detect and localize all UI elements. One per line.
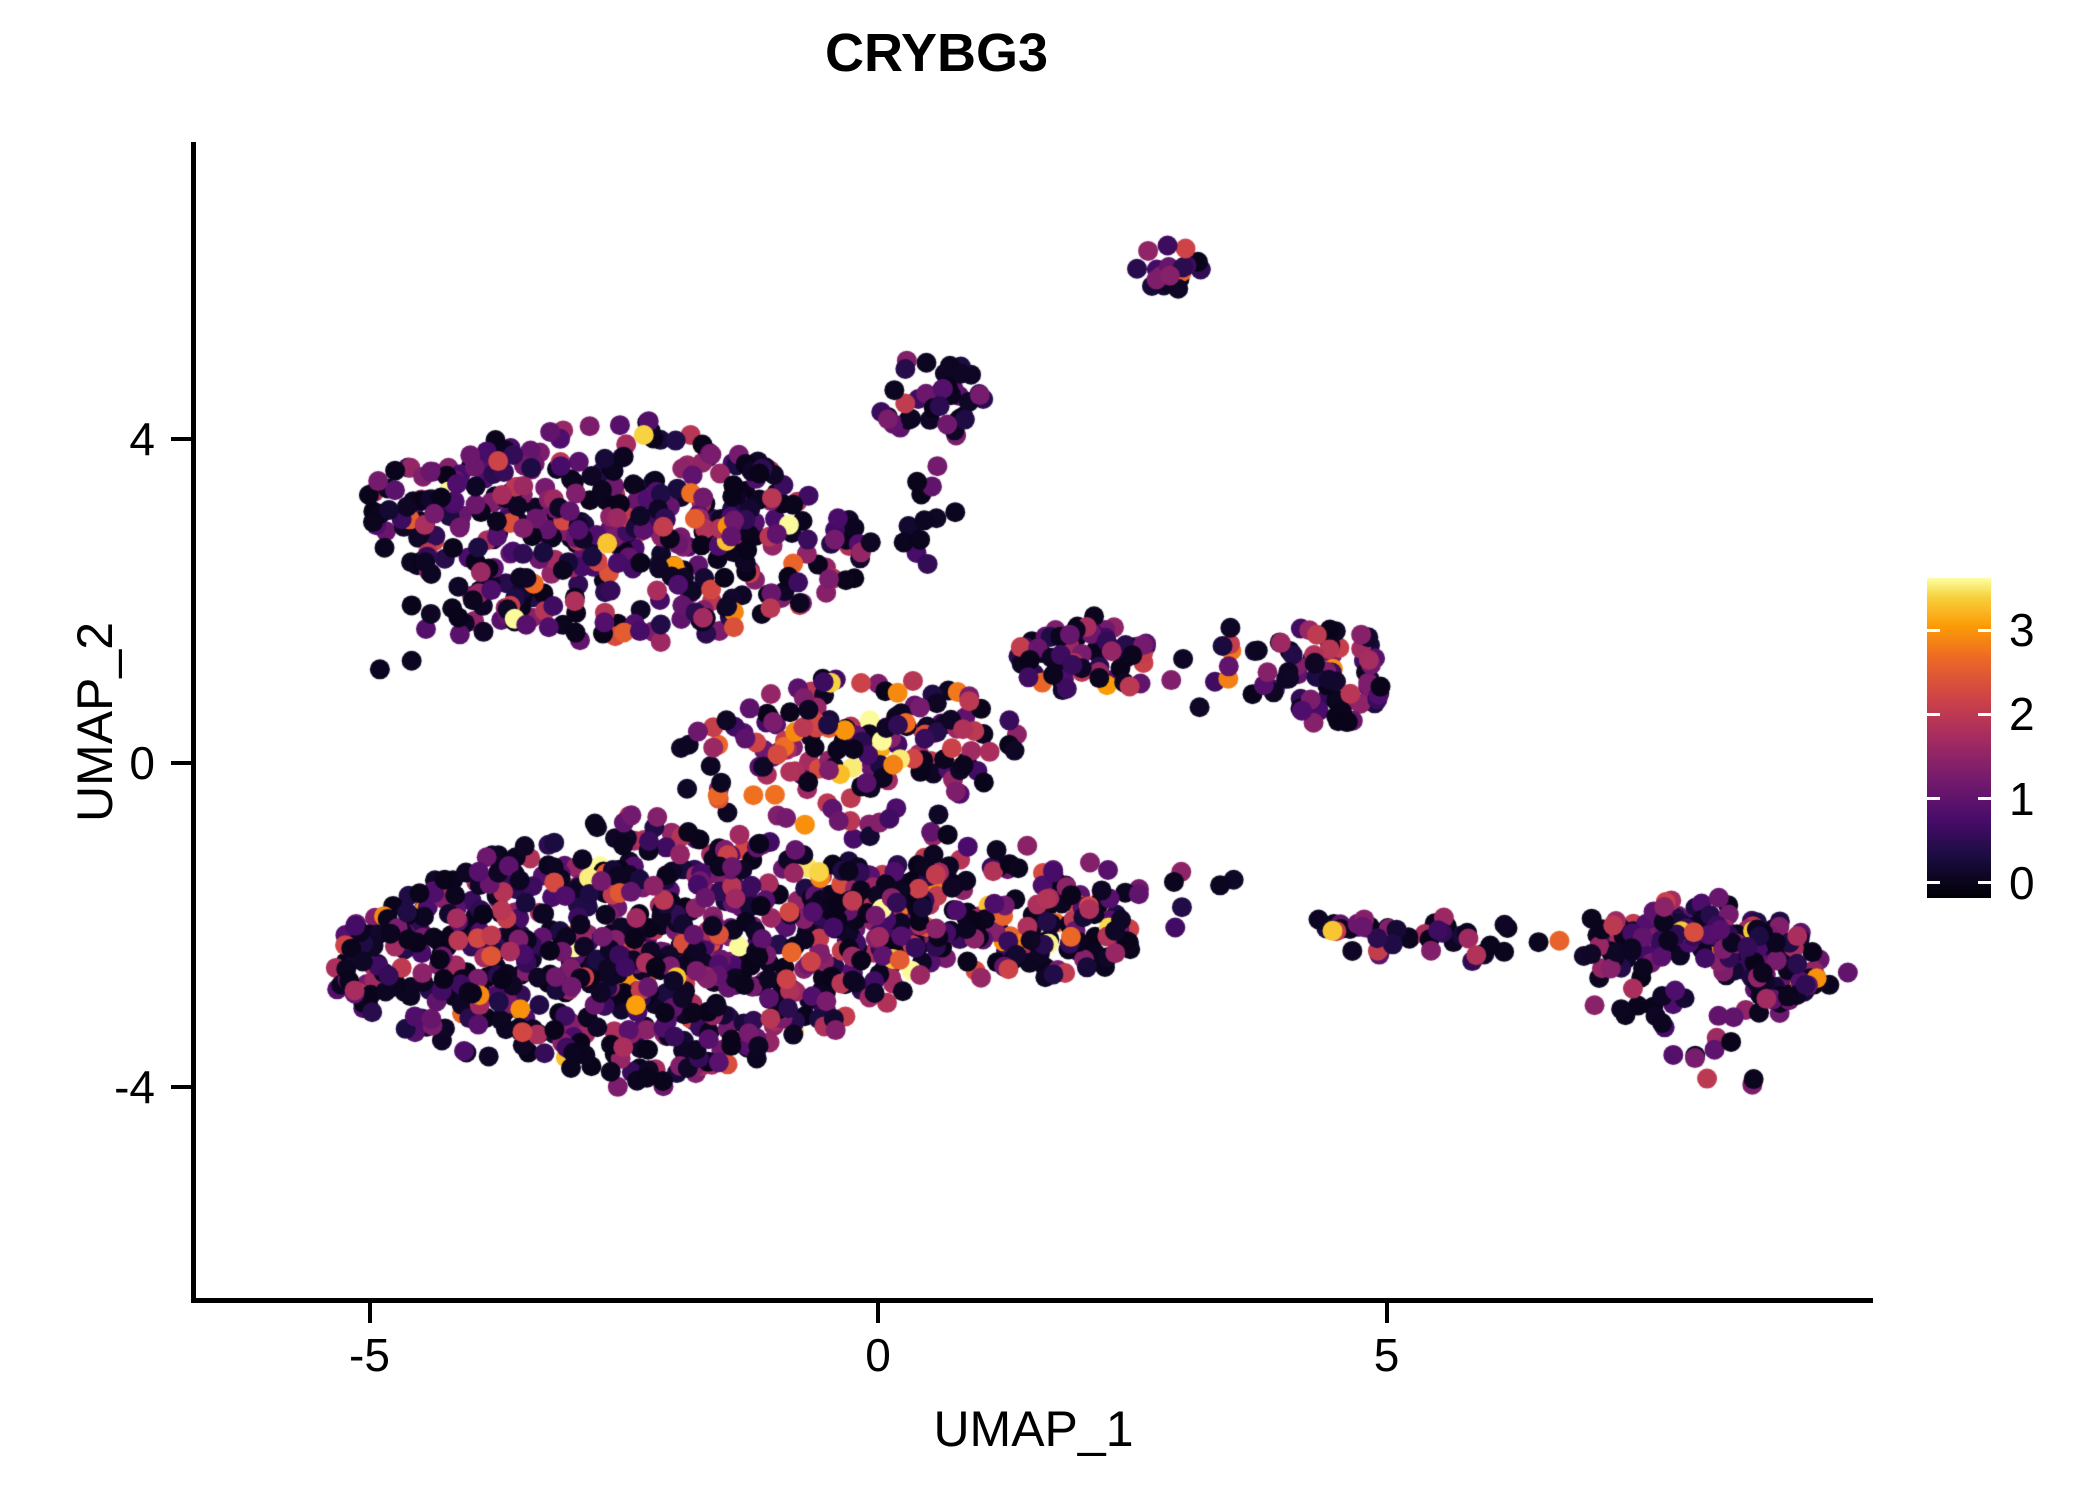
colorbar-tick-mark: [1978, 713, 1991, 716]
x-axis-line: [191, 1298, 1873, 1303]
x-tick-label: 0: [865, 1328, 891, 1382]
y-axis-line: [191, 142, 196, 1303]
colorbar-tick-mark: [1978, 797, 1991, 800]
colorbar-tick-mark: [1927, 881, 1940, 884]
chart-root: CRYBG3 -505 40-4 UMAP_1 UMAP_2 0123: [0, 0, 2100, 1500]
colorbar-tick-label: 2: [2009, 687, 2035, 741]
x-tick-label: 5: [1374, 1328, 1400, 1382]
y-axis-label: UMAP_2: [66, 142, 124, 1302]
colorbar-tick-mark: [1927, 629, 1940, 632]
colorbar-tick-mark: [1927, 797, 1940, 800]
colorbar-tick-label: 0: [2009, 856, 2035, 910]
y-tick-label: 4: [129, 412, 155, 466]
x-tick-label: -5: [349, 1328, 390, 1382]
x-tick-mark: [876, 1303, 880, 1323]
plot-panel: [194, 142, 1873, 1301]
y-tick-mark: [171, 761, 191, 765]
x-axis-label: UMAP_1: [194, 1400, 1873, 1458]
colorbar-tick-mark: [1927, 713, 1940, 716]
y-tick-mark: [171, 1085, 191, 1089]
colorbar-tick-label: 1: [2009, 772, 2035, 826]
colorbar-tick-label: 3: [2009, 603, 2035, 657]
colorbar-tick-mark: [1978, 629, 1991, 632]
colorbar-tick-mark: [1978, 881, 1991, 884]
y-tick-mark: [171, 437, 191, 441]
x-tick-mark: [368, 1303, 372, 1323]
page-title: CRYBG3: [0, 22, 1873, 84]
colorbar-legend: 0123: [1927, 578, 1991, 898]
x-tick-mark: [1385, 1303, 1389, 1323]
y-tick-label: 0: [129, 736, 155, 790]
colorbar-gradient: [1927, 578, 1991, 898]
